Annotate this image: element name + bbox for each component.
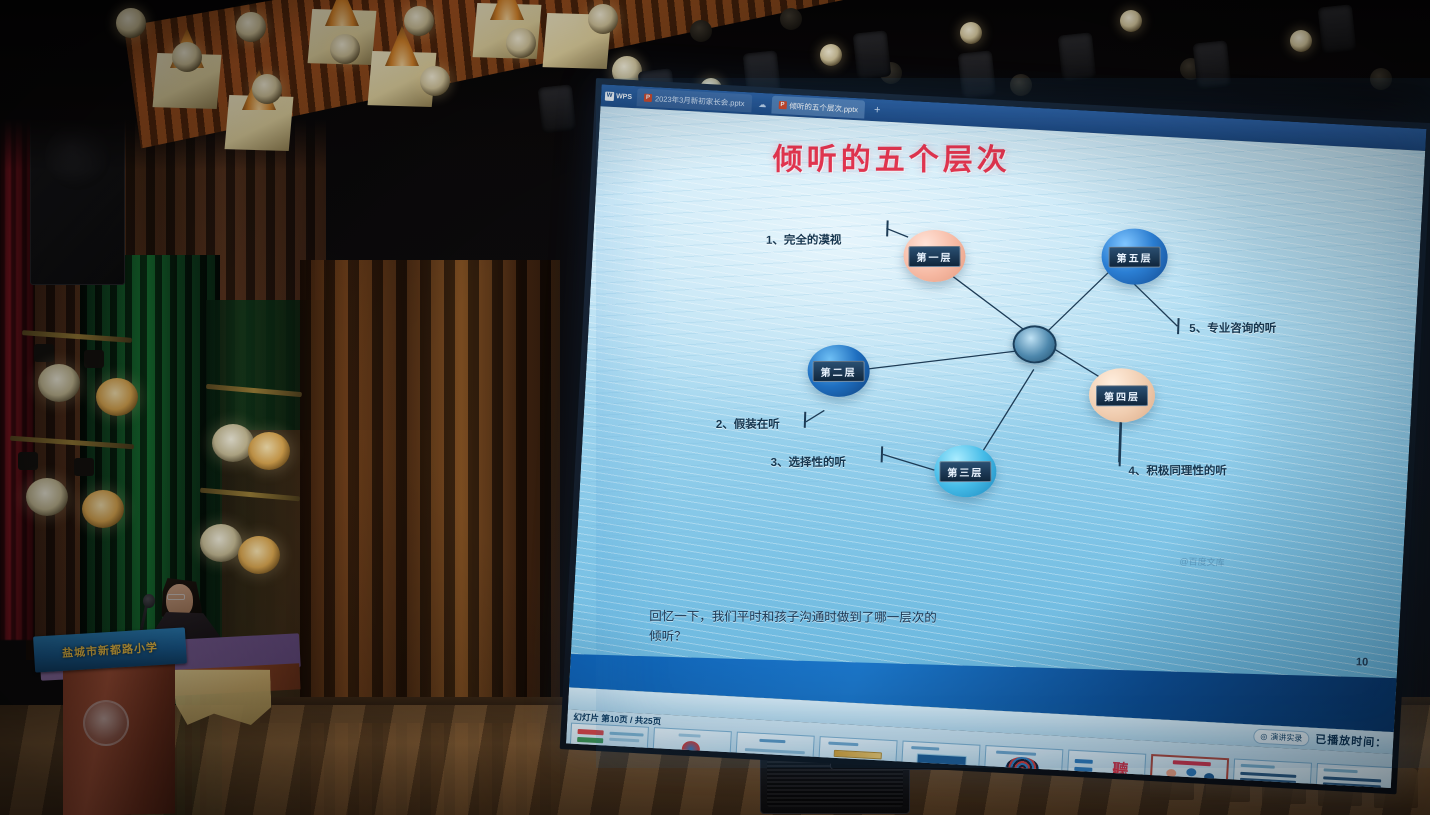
label-tick — [1177, 318, 1179, 334]
thumbnail-preview: 聽 — [1066, 750, 1146, 788]
label-tick — [804, 412, 806, 428]
ceiling-lamp — [116, 8, 146, 38]
ceiling-lamp — [330, 34, 360, 64]
par-light-neck — [18, 452, 38, 470]
node-label: 第四层 — [1096, 385, 1148, 406]
venue-banner-text: 盐城市新都路小学 — [62, 639, 159, 661]
moving-head-spotlight — [1058, 32, 1097, 81]
wps-tab-2-label: 倾听的五个层次.pptx — [789, 100, 858, 115]
label-level2: 2、假装在听 — [716, 416, 780, 432]
moving-head-spotlight — [853, 30, 892, 79]
ppt-icon: P — [644, 94, 652, 102]
diagram-node-level4[interactable]: 第四层 — [1088, 367, 1156, 423]
par-light — [82, 490, 124, 528]
moving-head-spotlight — [1318, 4, 1357, 53]
slide-title: 倾听的五个层次 — [773, 134, 1011, 178]
ceiling-lamp — [588, 4, 618, 34]
moving-head-spotlight — [958, 50, 997, 99]
ceiling-lamp — [960, 22, 982, 44]
led-screen: W WPS P 2023年3月新初家长会.pptx ☁ P 倾听的五个层次.pp… — [559, 78, 1430, 802]
ceiling-lamp-off — [690, 20, 712, 42]
par-light — [238, 536, 280, 574]
slide-content: 倾听的五个层次 — [575, 115, 1420, 724]
auditorium-scene: 盐城市新都路小学 W WPS P 2023年3月新初家长会.pptx ☁ P 倾… — [0, 0, 1430, 815]
par-light — [200, 524, 242, 562]
diagram-center-hub — [1012, 325, 1057, 364]
thumbnail-item[interactable]: 12 案例2 — [1314, 763, 1395, 788]
question-line-2: 倾听？ — [649, 626, 1189, 649]
diagram-node-level3[interactable]: 第三层 — [934, 444, 998, 498]
par-light-neck — [74, 458, 94, 476]
ceiling-lamp — [172, 42, 202, 72]
thumbnail-item[interactable]: 聽 9 幻灯片 9 — [1066, 750, 1147, 788]
camera-icon: ◎ — [1260, 731, 1267, 740]
wps-tab-1-label: 2023年3月新初家长会.pptx — [655, 93, 745, 109]
ceiling-lamp — [820, 44, 842, 66]
moving-head-spotlight — [1193, 40, 1232, 89]
cloud-icon[interactable]: ☁ — [753, 99, 771, 109]
par-light-neck — [84, 350, 104, 368]
par-light — [248, 432, 290, 470]
elapsed-time-label: 已播放时间： — [1315, 731, 1388, 751]
par-light — [38, 364, 80, 402]
wps-app-name: WPS — [616, 93, 632, 101]
label-level4: 4、积极同理性的听 — [1128, 464, 1238, 479]
label-level3: 3、选择性的听 — [771, 454, 846, 470]
label-tick — [886, 220, 888, 236]
slide-question-text: 回忆一下，我们平时和孩子沟通时做到了哪一层次的 倾听？ — [649, 606, 1189, 649]
question-line-1: 回忆一下，我们平时和孩子沟通时做到了哪一层次的 — [649, 606, 1189, 629]
wps-tab-2[interactable]: P 倾听的五个层次.pptx — [771, 96, 866, 119]
label-level1: 1、完全的漠视 — [766, 232, 841, 248]
par-light-neck — [34, 344, 54, 362]
ceiling-lamp — [420, 66, 450, 96]
thumbnail-preview — [1315, 763, 1395, 788]
ceiling-lamp — [252, 74, 282, 104]
node-label: 第三层 — [939, 461, 991, 482]
par-light — [96, 378, 138, 416]
label-tick — [881, 446, 883, 462]
microphone-icon — [143, 594, 155, 608]
ceiling-lamp-off — [1370, 68, 1392, 90]
presenter-head — [166, 584, 193, 617]
par-light — [212, 424, 254, 462]
node-label: 第五层 — [1109, 246, 1161, 267]
ceiling-lamp — [236, 12, 266, 42]
label-level5: 5、专业咨询的听 — [1189, 320, 1276, 336]
presenter-glasses — [167, 594, 185, 600]
ceiling-lamp — [1120, 10, 1142, 32]
wps-logo: W WPS — [600, 84, 637, 108]
ceiling-lamp-off — [780, 8, 802, 30]
node-label: 第一层 — [908, 245, 960, 266]
ppt-icon: P — [778, 101, 786, 109]
moving-head-spotlight — [538, 84, 577, 133]
school-crest — [83, 700, 129, 746]
diagram-node-level2[interactable]: 第二层 — [807, 344, 871, 398]
ceiling-lamp-off — [1010, 74, 1032, 96]
par-light — [26, 478, 68, 516]
slide-page-number: 10 — [1356, 656, 1369, 668]
new-tab-button[interactable]: + — [867, 104, 888, 117]
baidu-watermark: @百度文库 — [1179, 554, 1225, 568]
node-label: 第二层 — [813, 360, 865, 381]
wps-mark-icon: W — [605, 91, 614, 100]
diagram-node-level1[interactable]: 第一层 — [903, 229, 967, 283]
record-speech-label: 演讲实录 — [1270, 731, 1303, 744]
slide-canvas[interactable]: 倾听的五个层次 — [569, 106, 1425, 732]
label-tick — [1119, 422, 1122, 466]
record-speech-button[interactable]: ◎ 演讲实录 — [1253, 728, 1310, 746]
screen-surface: W WPS P 2023年3月新初家长会.pptx ☁ P 倾听的五个层次.pp… — [566, 84, 1426, 788]
ceiling-lamp — [1290, 30, 1312, 52]
diagram-node-level5[interactable]: 第五层 — [1101, 228, 1169, 286]
ceiling-lamp — [404, 6, 434, 36]
ceiling-lamp — [506, 28, 536, 58]
